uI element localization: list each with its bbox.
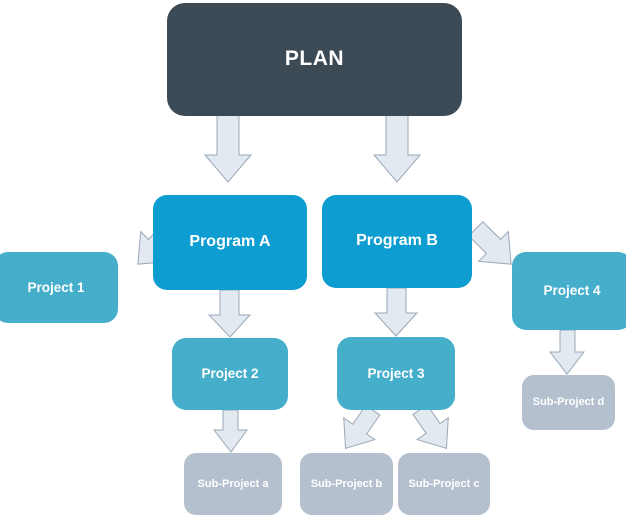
- node-subproject-c-label: Sub-Project c: [409, 478, 480, 491]
- node-project-3-label: Project 3: [367, 366, 424, 382]
- node-project-4[interactable]: Project 4: [512, 252, 626, 330]
- node-subproject-a-label: Sub-Project a: [198, 478, 269, 491]
- node-program-a[interactable]: Program A: [153, 195, 307, 290]
- node-project-1[interactable]: Project 1: [0, 252, 118, 323]
- diagram-canvas: PLAN Program A Program B Project 1 Proje…: [0, 0, 626, 515]
- node-subproject-a[interactable]: Sub-Project a: [184, 453, 282, 515]
- node-program-b[interactable]: Program B: [322, 195, 472, 288]
- arrow-plan-to-program-b: [374, 113, 420, 182]
- node-program-a-label: Program A: [189, 233, 270, 251]
- arrow-plan-to-program-a: [205, 113, 251, 182]
- node-subproject-d-label: Sub-Project d: [533, 396, 605, 409]
- arrow-program-b-to-project-3: [375, 288, 417, 336]
- node-program-b-label: Program B: [356, 232, 438, 250]
- node-project-3[interactable]: Project 3: [337, 337, 455, 410]
- arrow-program-a-to-project-2: [209, 290, 250, 337]
- node-project-2-label: Project 2: [201, 366, 258, 382]
- node-project-1-label: Project 1: [27, 280, 84, 296]
- node-subproject-c[interactable]: Sub-Project c: [398, 453, 490, 515]
- node-subproject-b-label: Sub-Project b: [311, 478, 383, 491]
- node-subproject-d[interactable]: Sub-Project d: [522, 375, 615, 430]
- arrow-project-4-to-subproject-d: [550, 330, 584, 374]
- node-plan-label: PLAN: [285, 47, 344, 71]
- node-plan[interactable]: PLAN: [167, 3, 462, 116]
- node-subproject-b[interactable]: Sub-Project b: [300, 453, 393, 515]
- node-project-2[interactable]: Project 2: [172, 338, 288, 410]
- arrow-project-2-to-subproject-a: [214, 410, 247, 452]
- node-project-4-label: Project 4: [543, 283, 600, 299]
